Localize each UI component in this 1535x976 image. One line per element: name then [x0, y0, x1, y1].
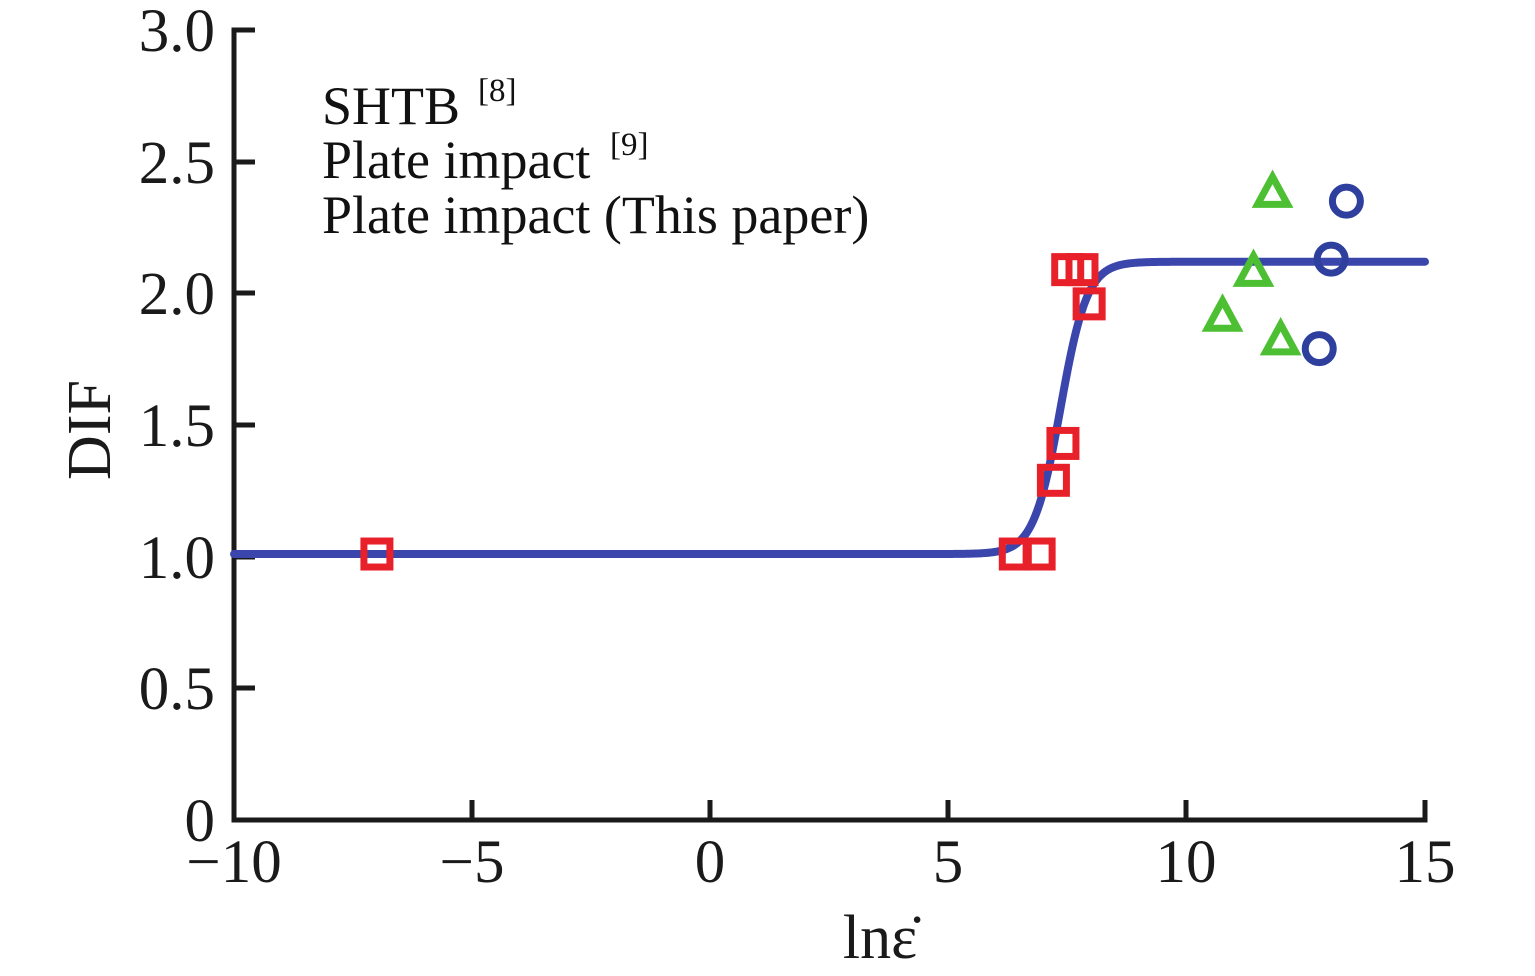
legend-entry-plate-impact[interactable]: Plate impact [9]: [274, 127, 648, 190]
x-axis-title: lnε̇: [843, 904, 921, 972]
x-tick-label-0: 0: [695, 829, 726, 896]
y-tick-label-1_5: 1.5: [139, 393, 215, 460]
x-tick-label-15: 15: [1395, 829, 1456, 896]
y-axis-title: DIF: [56, 380, 124, 480]
data-point: [1258, 177, 1288, 205]
legend-ref-plate-impact: [9]: [610, 127, 648, 163]
x-tick-label-minus10: −10: [186, 829, 281, 896]
series-this-paper-markers: [1305, 187, 1360, 362]
legend: SHTB [8] Plate impact [9] Plate impact (…: [274, 73, 869, 245]
y-tick-label-0_5: 0.5: [139, 656, 215, 723]
y-tick-label-2_0: 2.0: [139, 261, 215, 328]
x-tick-label-10: 10: [1156, 829, 1217, 896]
x-tick-label-5: 5: [933, 829, 964, 896]
data-point: [1208, 301, 1238, 329]
data-point: [1266, 324, 1296, 352]
legend-label-shtb: SHTB: [322, 76, 460, 136]
x-axis-ticks: [234, 800, 1425, 820]
legend-label-plate-impact: Plate impact: [322, 130, 590, 190]
y-tick-label-2_5: 2.5: [139, 130, 215, 197]
y-tick-label-1_0: 1.0: [139, 525, 215, 592]
chart-figure: 0 0.5 1.0 1.5 2.0 2.5 3.0 −10 −5 0 5 10 …: [0, 0, 1535, 976]
legend-ref-shtb: [8]: [478, 73, 516, 109]
legend-entry-this-paper[interactable]: Plate impact (This paper): [275, 185, 869, 245]
legend-entry-shtb[interactable]: SHTB [8]: [276, 73, 516, 136]
legend-circle-icon: [275, 202, 303, 230]
dif-strain-rate-scatter-plot: 0 0.5 1.0 1.5 2.0 2.5 3.0 −10 −5 0 5 10 …: [0, 0, 1535, 976]
y-tick-label-3_0: 3.0: [139, 0, 215, 65]
y-axis-ticks: [234, 30, 255, 820]
data-point: [1332, 187, 1360, 215]
data-point: [1305, 335, 1333, 363]
x-tick-label-minus5: −5: [440, 829, 505, 896]
legend-label-this-paper: Plate impact (This paper): [322, 185, 869, 245]
legend-square-icon: [276, 96, 302, 122]
model-fit-curve: [234, 262, 1425, 554]
legend-triangle-icon: [274, 149, 304, 176]
series-shtb-markers: [364, 257, 1102, 567]
